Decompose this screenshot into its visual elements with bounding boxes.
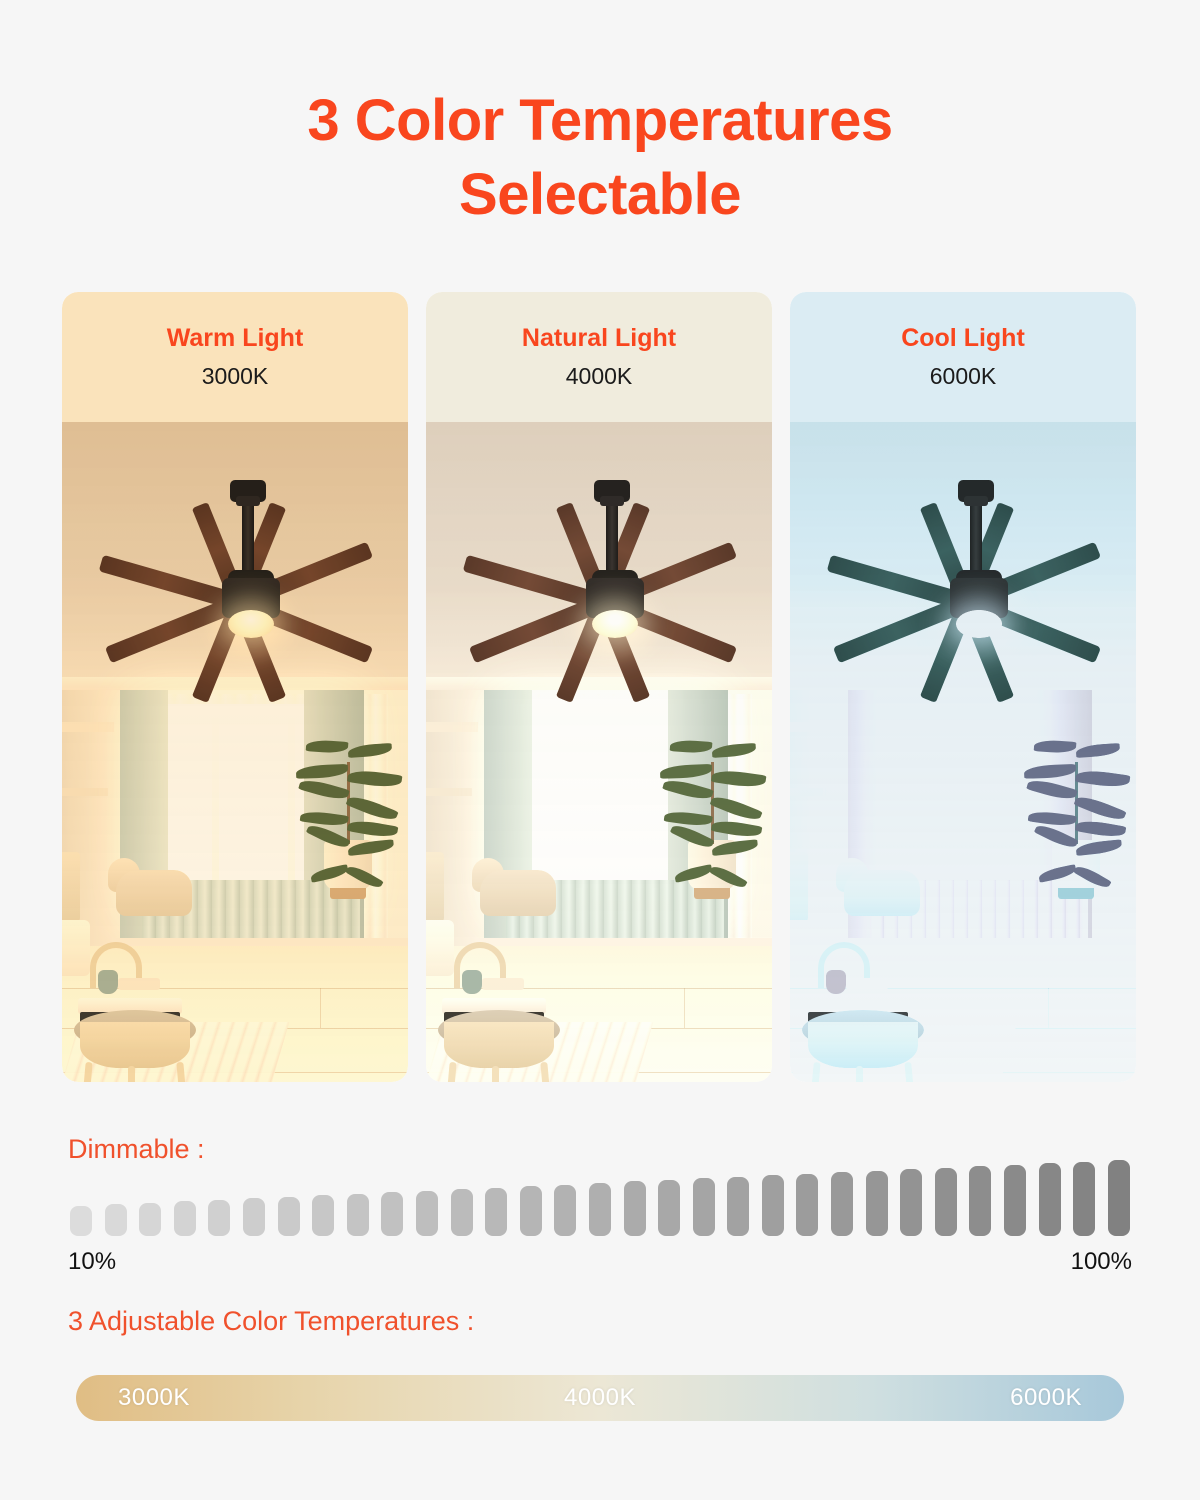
- fan-light-lamp: [228, 610, 274, 638]
- fan-light-lamp: [592, 610, 638, 638]
- dimmable-bar[interactable]: [935, 1168, 957, 1236]
- dimmable-bar[interactable]: [1073, 1162, 1095, 1236]
- floor-plank-seam: [684, 988, 685, 1028]
- dimmable-bar[interactable]: [693, 1178, 715, 1236]
- dimmable-bar[interactable]: [1039, 1163, 1061, 1236]
- dimmable-bar[interactable]: [554, 1185, 576, 1236]
- fan-ceiling-mount-ring: [964, 496, 988, 506]
- shelf-lower: [426, 788, 472, 796]
- table-tray: [482, 978, 524, 990]
- table-tray: [846, 978, 888, 990]
- page-title-line-1: 3 Color Temperatures: [307, 88, 892, 153]
- dimmable-bar[interactable]: [969, 1166, 991, 1236]
- fan-light-lamp: [956, 610, 1002, 638]
- sofa-seat: [790, 920, 818, 976]
- page-title-line-2: Selectable: [0, 158, 1200, 232]
- card-title-natural: Natural Light: [522, 324, 676, 353]
- sofa-seat: [62, 920, 90, 976]
- table-tray: [118, 978, 160, 990]
- product-feature-page: 3 Color Temperatures Selectable Warm Lig…: [0, 0, 1200, 1500]
- dimmable-bar[interactable]: [831, 1172, 853, 1236]
- dimmable-bar[interactable]: [727, 1177, 749, 1236]
- dimmable-bar[interactable]: [243, 1198, 265, 1236]
- dimmable-bar[interactable]: [208, 1200, 230, 1236]
- plant-pot-base: [1058, 888, 1094, 899]
- color-temperature-card-natural[interactable]: Natural Light 4000K: [426, 292, 772, 1082]
- sofa-seat: [426, 920, 454, 976]
- dimmable-bar[interactable]: [866, 1171, 888, 1236]
- card-header-natural: Natural Light 4000K: [426, 292, 772, 422]
- floor-plank-seam: [320, 988, 321, 1028]
- dimmable-bar[interactable]: [589, 1183, 611, 1236]
- card-header-cool: Cool Light 6000K: [790, 292, 1136, 422]
- page-title: 3 Color Temperatures Selectable: [0, 84, 1200, 232]
- color-temperature-slider[interactable]: 3000K 4000K 6000K: [76, 1375, 1124, 1421]
- dimmable-min-label: 10%: [68, 1248, 116, 1276]
- dimmable-bar[interactable]: [762, 1175, 784, 1236]
- armchair: [116, 870, 192, 916]
- coffee-table-leg: [492, 1066, 499, 1082]
- card-title-cool: Cool Light: [901, 324, 1025, 353]
- sofa-back: [426, 852, 444, 922]
- dimmable-bar[interactable]: [451, 1189, 473, 1236]
- sofa-back: [62, 852, 80, 922]
- coffee-table-leg: [856, 1066, 863, 1082]
- dimmable-bar[interactable]: [381, 1192, 403, 1236]
- card-kelvin-natural: 4000K: [566, 363, 633, 390]
- shelf-lower: [790, 788, 836, 796]
- card-title-warm: Warm Light: [167, 324, 304, 353]
- shelf: [62, 722, 114, 732]
- dimmable-bar[interactable]: [174, 1201, 196, 1236]
- card-header-warm: Warm Light 3000K: [62, 292, 408, 422]
- room-photo-warm: [62, 422, 408, 1082]
- ct-tick-6000k: 6000K: [1010, 1384, 1082, 1412]
- color-temperature-card-cool[interactable]: Cool Light 6000K: [790, 292, 1136, 1082]
- dimmable-bar[interactable]: [658, 1180, 680, 1236]
- fan-ceiling-mount-ring: [236, 496, 260, 506]
- color-temperature-label: 3 Adjustable Color Temperatures :: [68, 1306, 474, 1337]
- dimmable-bar[interactable]: [312, 1195, 334, 1236]
- dimmable-bar[interactable]: [347, 1194, 369, 1236]
- table-vase: [826, 970, 846, 994]
- dimmable-bar[interactable]: [278, 1197, 300, 1236]
- room-photo-natural: [426, 422, 772, 1082]
- dimmable-bar[interactable]: [1108, 1160, 1130, 1236]
- armchair: [844, 870, 920, 916]
- sofa-back: [790, 852, 808, 922]
- card-kelvin-cool: 6000K: [930, 363, 997, 390]
- color-temperature-card-warm[interactable]: Warm Light 3000K: [62, 292, 408, 1082]
- dimmable-max-label: 100%: [1071, 1248, 1132, 1276]
- floor-plank-seam: [1048, 988, 1049, 1028]
- ct-tick-4000k: 4000K: [564, 1384, 636, 1412]
- shelf: [426, 722, 478, 732]
- shelf: [790, 722, 842, 732]
- dimmable-bar[interactable]: [485, 1188, 507, 1236]
- dimmable-bar[interactable]: [416, 1191, 438, 1236]
- dimmable-bar[interactable]: [1004, 1165, 1026, 1236]
- dimmable-bar[interactable]: [796, 1174, 818, 1236]
- dimmable-bar[interactable]: [520, 1186, 542, 1236]
- fan-ceiling-mount-ring: [600, 496, 624, 506]
- ceiling-fan: [426, 466, 772, 706]
- ceiling-fan: [790, 466, 1136, 706]
- ceiling-fan: [62, 466, 408, 706]
- coffee-table-body: [808, 1022, 918, 1068]
- table-vase: [98, 970, 118, 994]
- card-kelvin-warm: 3000K: [202, 363, 269, 390]
- dimmable-level-bars[interactable]: [70, 1158, 1130, 1236]
- coffee-table-leg: [128, 1066, 135, 1082]
- coffee-table-body: [444, 1022, 554, 1068]
- coffee-table-body: [80, 1022, 190, 1068]
- armchair: [480, 870, 556, 916]
- dimmable-bar[interactable]: [105, 1204, 127, 1236]
- dimmable-bar[interactable]: [70, 1206, 92, 1236]
- plant-pot-base: [330, 888, 366, 899]
- ct-tick-3000k: 3000K: [118, 1384, 190, 1412]
- dimmable-bar[interactable]: [900, 1169, 922, 1236]
- table-vase: [462, 970, 482, 994]
- plant-pot-base: [694, 888, 730, 899]
- color-temperature-card-list: Warm Light 3000K: [62, 292, 1138, 1082]
- shelf-lower: [62, 788, 108, 796]
- room-photo-cool: [790, 422, 1136, 1082]
- dimmable-bar[interactable]: [139, 1203, 161, 1236]
- dimmable-bar[interactable]: [624, 1181, 646, 1236]
